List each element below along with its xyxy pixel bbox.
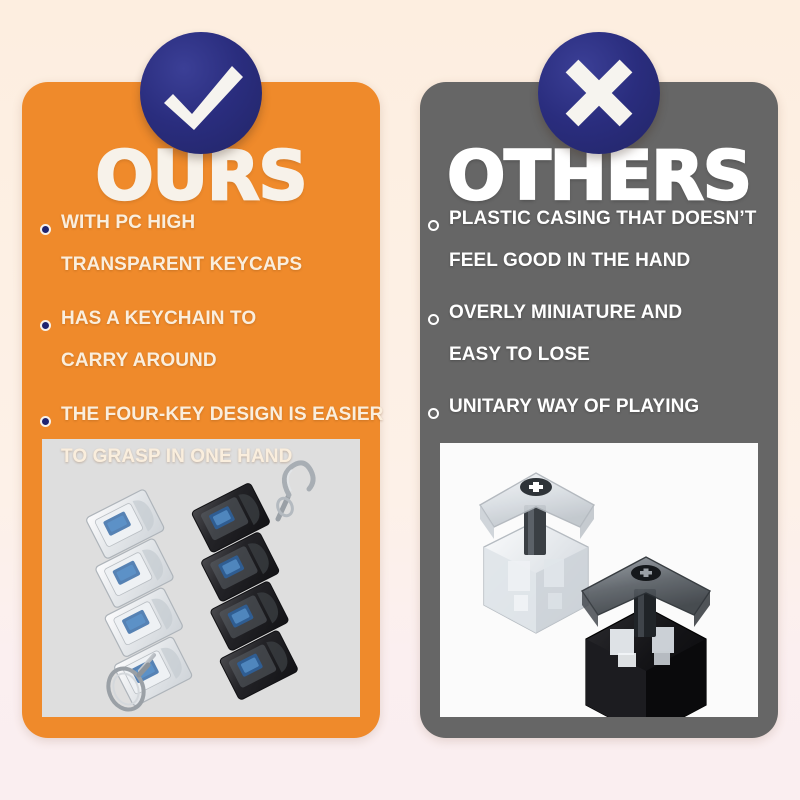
bullet-dot-icon — [40, 416, 51, 427]
list-item-line: OVERLY MINIATURE AND — [449, 292, 772, 334]
drawback-list-others: PLASTIC CASING THAT DOESN’T FEEL GOOD IN… — [428, 198, 772, 438]
cross-icon — [538, 32, 660, 154]
list-item: OVERLY MINIATURE AND EASY TO LOSE — [428, 292, 772, 376]
clear-keyswitch — [480, 473, 594, 633]
product-photo-others — [440, 443, 758, 717]
benefit-list-ours: WITH PC HIGH TRANSPARENT KEYCAPS HAS A K… — [40, 202, 370, 490]
list-item: UNITARY WAY OF PLAYING — [428, 386, 772, 428]
bullet-dot-icon — [428, 314, 439, 325]
list-item: HAS A KEYCHAIN TO CARRY AROUND — [40, 298, 370, 382]
comparison-infographic: OURS WITH PC HIGH TRANSPARENT KEYCAPS HA… — [0, 0, 800, 800]
bullet-dot-icon — [428, 220, 439, 231]
list-item-line: UNITARY WAY OF PLAYING — [449, 386, 772, 428]
bullet-dot-icon — [40, 320, 51, 331]
list-item-line: TO GRASP IN ONE HAND — [61, 436, 383, 478]
black-keyswitch — [582, 557, 710, 717]
list-item-line: CARRY AROUND — [61, 340, 370, 382]
list-item-line: HAS A KEYCHAIN TO — [61, 298, 370, 340]
list-item: THE FOUR-KEY DESIGN IS EASIER TO GRASP I… — [40, 394, 370, 478]
bullet-dot-icon — [428, 408, 439, 419]
bullet-dot-icon — [40, 224, 51, 235]
list-item-line: TRANSPARENT KEYCAPS — [61, 244, 370, 286]
list-item-line: THE FOUR-KEY DESIGN IS EASIER — [61, 394, 383, 436]
check-icon — [140, 32, 262, 154]
list-item-line: FEEL GOOD IN THE HAND — [449, 240, 772, 282]
list-item-line: EASY TO LOSE — [449, 334, 772, 376]
